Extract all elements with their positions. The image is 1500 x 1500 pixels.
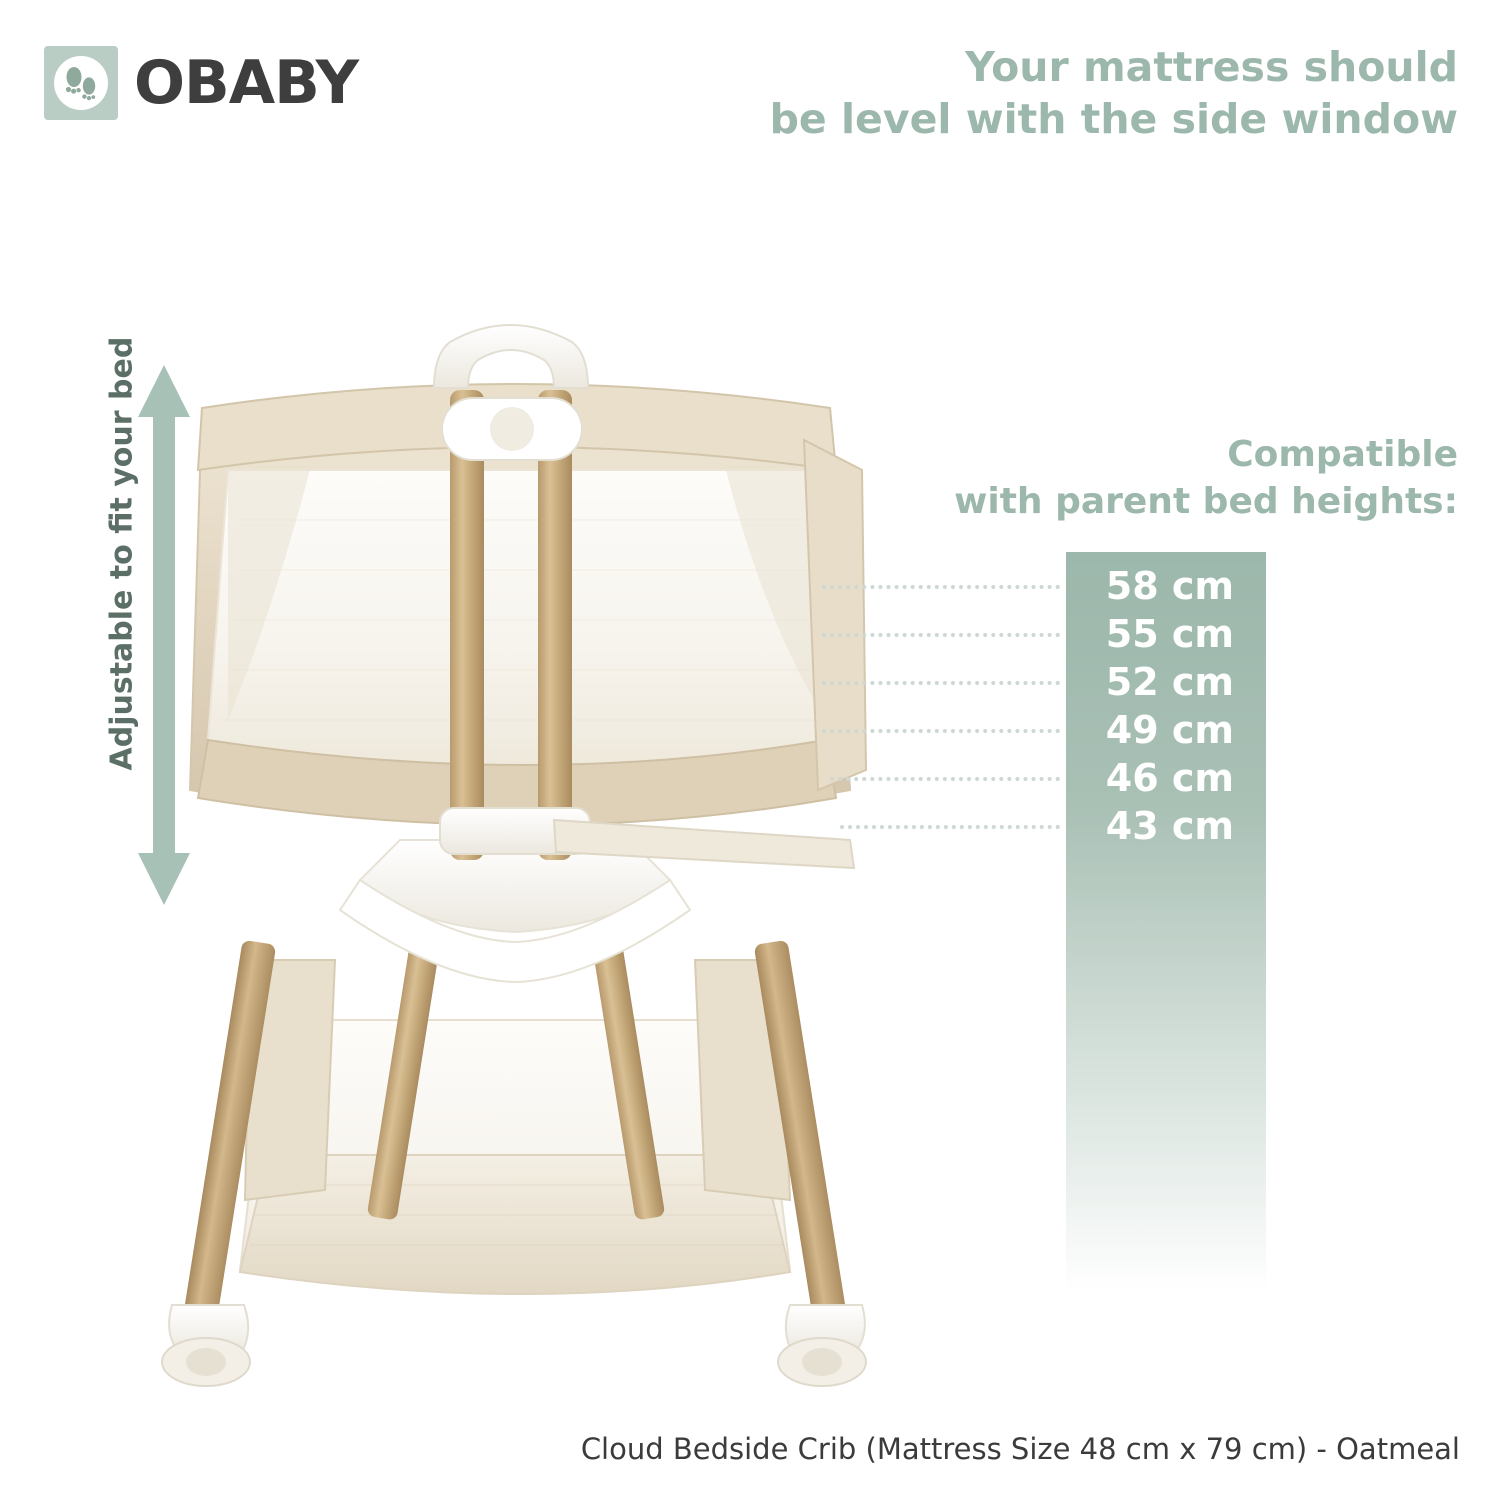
leader-line-3	[822, 729, 1060, 737]
leader-line-5	[840, 825, 1060, 833]
logo-mark	[44, 46, 118, 120]
leader-line-1	[822, 633, 1060, 641]
brand-name: OBABY	[134, 53, 358, 113]
bed-height-row: 52 cm	[1066, 658, 1256, 706]
bed-height-value: 49 cm	[1106, 708, 1234, 752]
compatibility-title-line-1: Compatible	[758, 432, 1458, 479]
bed-height-value: 43 cm	[1106, 804, 1234, 848]
bed-height-value: 46 cm	[1106, 756, 1234, 800]
headline: Your mattress should be level with the s…	[578, 42, 1458, 145]
bed-height-value: 55 cm	[1106, 612, 1234, 656]
headline-line-1: Your mattress should	[578, 42, 1458, 94]
bed-height-value: 58 cm	[1106, 564, 1234, 608]
product-caption: Cloud Bedside Crib (Mattress Size 48 cm …	[581, 1432, 1460, 1466]
bed-height-row: 58 cm	[1066, 562, 1256, 610]
logo-circle	[54, 56, 108, 110]
adjustable-height-label: Adjustable to fit your bed	[105, 351, 140, 771]
headline-line-2: be level with the side window	[578, 94, 1458, 146]
baby-footprints-icon	[64, 64, 98, 102]
brand-logo: OBABY	[44, 46, 358, 120]
bed-height-row: 43 cm	[1066, 802, 1256, 850]
compatibility-title: Compatible with parent bed heights:	[758, 432, 1458, 526]
compatibility-title-line-2: with parent bed heights:	[758, 479, 1458, 526]
leader-line-0	[822, 585, 1060, 593]
bed-height-row: 49 cm	[1066, 706, 1256, 754]
bed-height-row: 55 cm	[1066, 610, 1256, 658]
leader-line-2	[822, 681, 1060, 689]
leader-line-4	[830, 777, 1060, 785]
bed-height-row: 46 cm	[1066, 754, 1256, 802]
bed-height-value: 52 cm	[1106, 660, 1234, 704]
